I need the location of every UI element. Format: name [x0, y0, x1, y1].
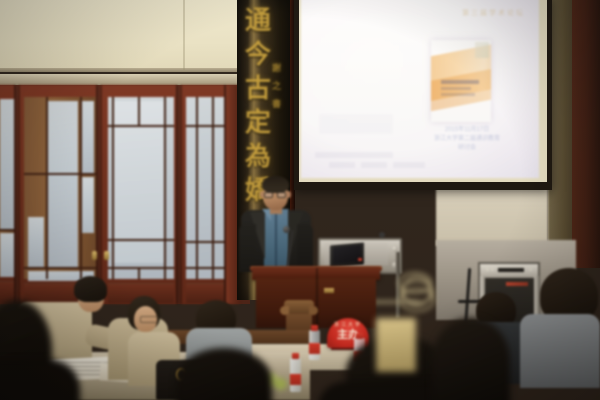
attendee-1-hair [74, 276, 107, 302]
lecture-hall-photo: 通 今 古 定 為 嬌 謝 之 書 第三届学术论坛 2015年11月17日 浙江… [0, 0, 600, 400]
attendee-5-body [520, 314, 600, 388]
foreground-head-far-right [432, 318, 510, 400]
attendee-2-glasses [140, 316, 159, 323]
foreground-yellow-folder [376, 318, 416, 372]
foreground-shoulder-left [0, 360, 80, 400]
audience-group [0, 0, 600, 400]
